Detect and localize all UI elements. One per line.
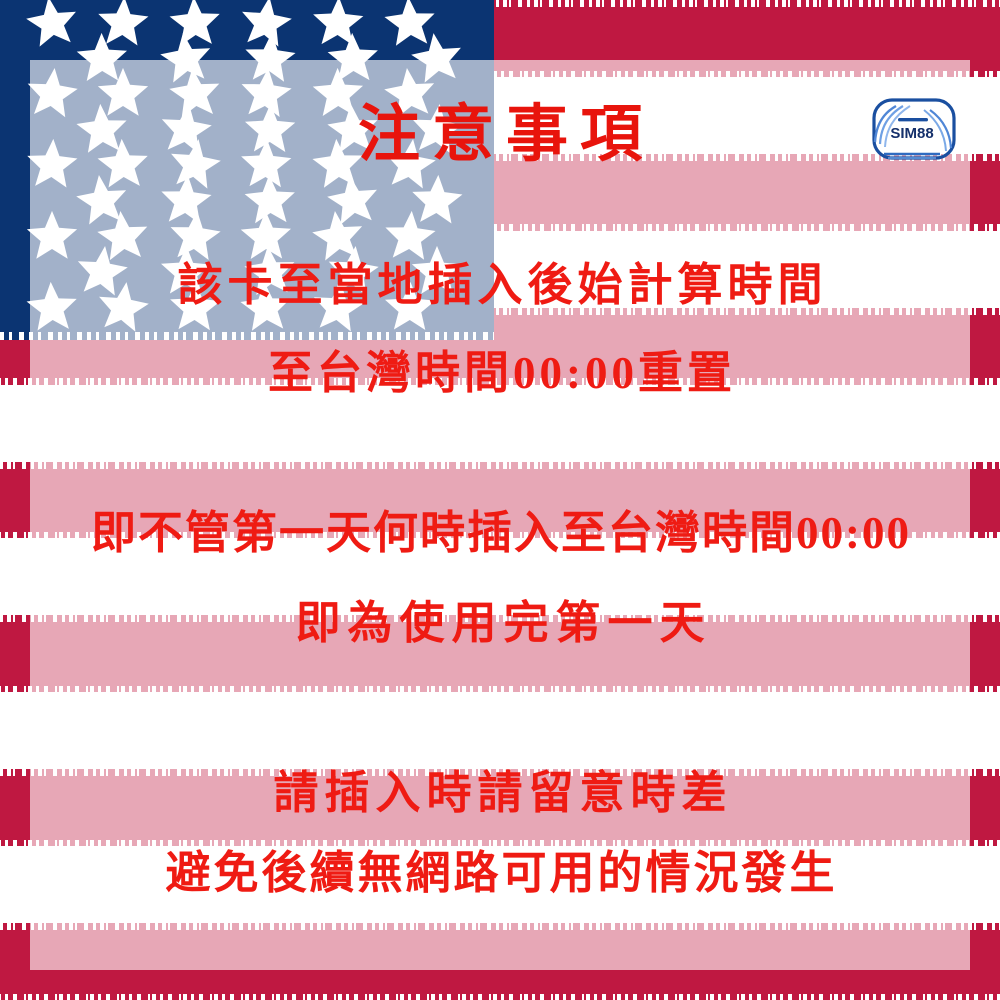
poster-content: SIM88 注意事項 該卡至當地插入後始計算時間 至台灣時間00:00重置 即不… — [0, 0, 1000, 1000]
notice-line-3: 即不管第一天何時插入至台灣時間00:00 — [0, 496, 1000, 561]
notice-line-2: 至台灣時間00:00重置 — [0, 336, 1000, 401]
notice-line-1: 該卡至當地插入後始計算時間 — [0, 248, 1000, 313]
notice-line-5: 請插入時請留意時差 — [0, 756, 1000, 821]
notice-line-4: 即為使用完第一天 — [0, 586, 1000, 651]
notice-poster: SIM88 注意事項 該卡至當地插入後始計算時間 至台灣時間00:00重置 即不… — [0, 0, 1000, 1000]
page-title: 注意事項 — [0, 103, 1000, 168]
notice-line-6: 避免後續無網路可用的情況發生 — [0, 836, 1000, 901]
